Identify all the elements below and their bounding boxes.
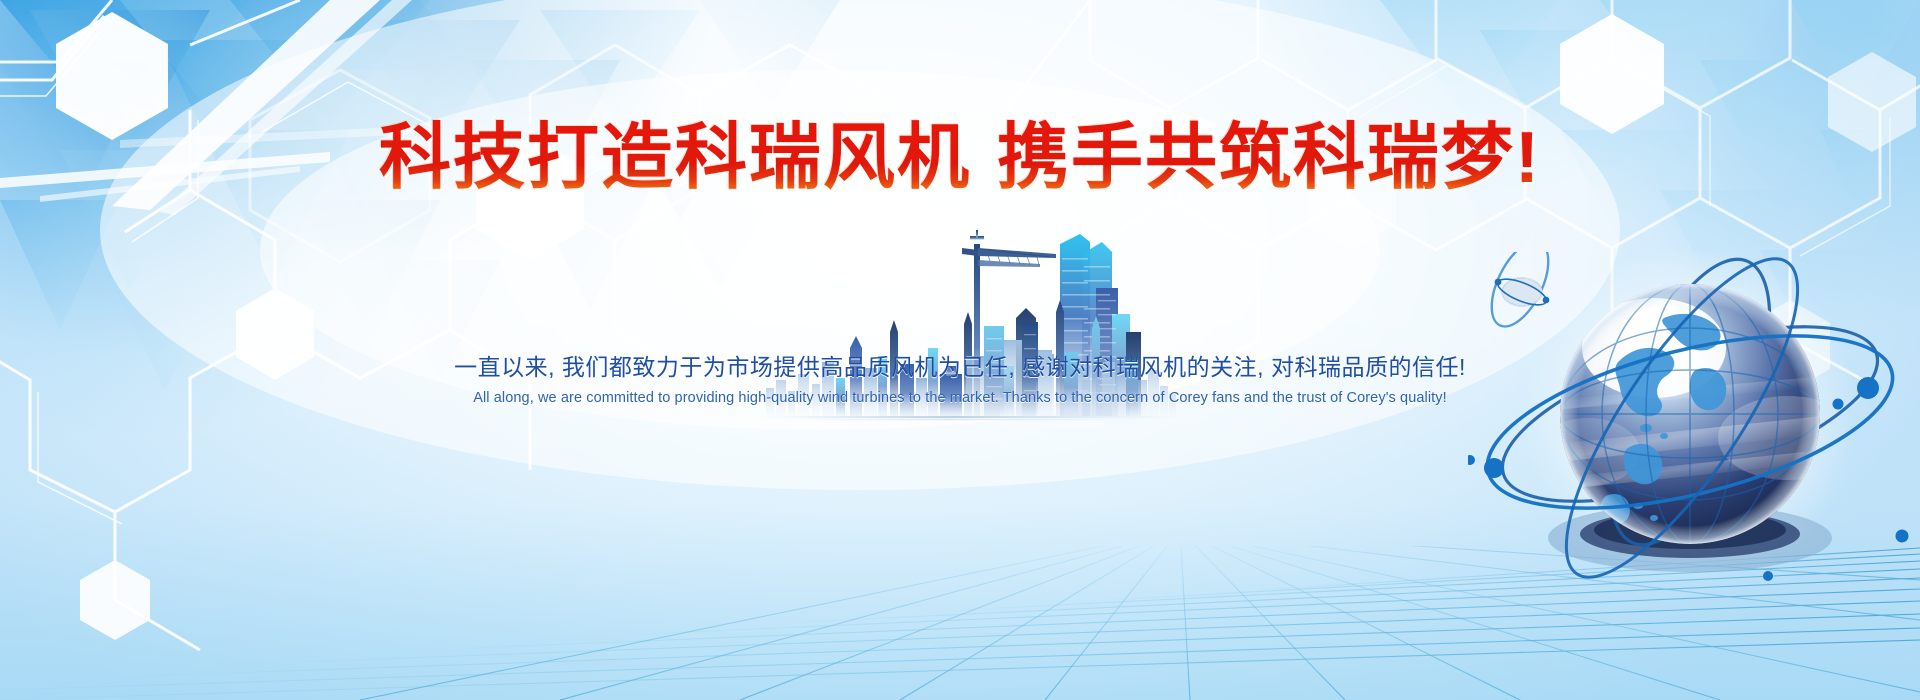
subtitle-chinese: 一直以来, 我们都致力于为市场提供高品质风机为己任, 感谢对科瑞风机的关注, 对… [0,352,1920,382]
satellite-node [1495,274,1550,310]
chrome-globe-graphic [1468,252,1920,608]
subtitle-english: All along, we are committed to providing… [0,388,1920,408]
hero-banner: 科技打造科瑞风机携手共筑科瑞梦! [0,0,1920,700]
